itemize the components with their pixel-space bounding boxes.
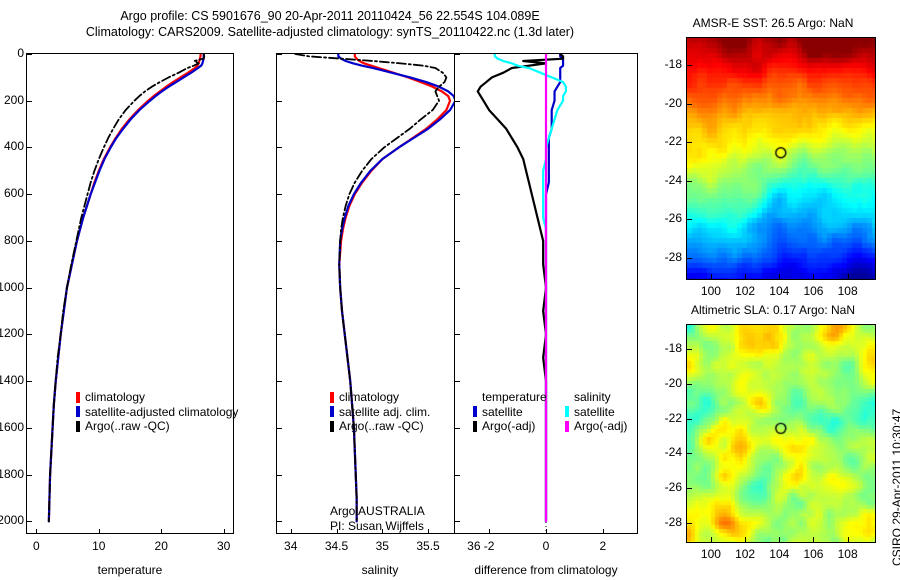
axis-tick-label: 600: [0, 186, 24, 200]
legend-item: Argo(-adj): [565, 419, 627, 434]
legend-item-label: climatology: [85, 390, 145, 405]
axis-tick-label: -20: [650, 376, 682, 390]
series-temperature-argo-adj-: [478, 54, 563, 521]
legend-item-label: Argo(..raw -QC): [85, 419, 170, 434]
csiro-timestamp: CSIRO 29-Apr-2011 10:30:47: [890, 409, 900, 566]
axis-tick-mark: [848, 274, 849, 279]
axis-tick-mark: [813, 274, 814, 279]
axis-tick-mark: [27, 475, 32, 476]
axis-tick-mark: [277, 54, 282, 55]
provider-line-1: Argo AUSTRALIA: [330, 504, 425, 519]
axis-tick-mark: [277, 101, 282, 102]
legend-item-label: satellite adj. clim.: [339, 405, 430, 420]
axis-tick-mark: [687, 181, 692, 182]
difference-legend-salinity: salinitysatelliteArgo(-adj): [565, 390, 627, 434]
series-salinity-satellite: [495, 54, 566, 521]
axis-tick-mark: [455, 521, 460, 522]
axis-tick-mark: [455, 334, 460, 335]
axis-tick-mark: [687, 349, 692, 350]
axis-tick-mark: [161, 529, 162, 534]
axis-tick-label: -28: [650, 250, 682, 264]
axis-tick-label: 30: [204, 539, 244, 553]
series-argo-raw-qc-: [295, 54, 446, 521]
axis-tick-mark: [546, 529, 547, 534]
difference-xlabel: difference from climatology: [444, 563, 648, 577]
axis-tick-mark: [779, 274, 780, 279]
axis-tick-label: 1200: [0, 326, 24, 340]
legend-header: salinity: [565, 390, 627, 405]
legend-item: climatology: [76, 390, 238, 405]
legend-item-label: climatology: [339, 390, 399, 405]
axis-tick-label: -22: [650, 134, 682, 148]
title-line-1: Argo profile: CS 5901676_90 20-Apr-2011 …: [0, 8, 660, 24]
axis-tick-label: 108: [828, 547, 868, 561]
axis-tick-mark: [455, 101, 460, 102]
sst-map-title: AMSR-E SST: 26.5 Argo: NaN: [658, 16, 888, 30]
axis-tick-mark: [455, 381, 460, 382]
axis-tick-mark: [428, 529, 429, 534]
legend-item: climatology: [330, 390, 430, 405]
sla-map-panel: [686, 324, 876, 543]
axis-tick-mark: [455, 54, 460, 55]
axis-tick-mark: [36, 529, 37, 534]
legend-color-swatch: [76, 406, 80, 417]
axis-tick-mark: [489, 529, 490, 534]
axis-tick-mark: [224, 529, 225, 534]
legend-color-swatch: [330, 392, 334, 403]
axis-tick-label: 10: [79, 539, 119, 553]
legend-item-label: satellite-adjusted climatology: [85, 405, 238, 420]
series-temperature-satellite: [546, 54, 563, 521]
difference-panel: [454, 53, 638, 534]
sst-map-panel: [686, 37, 876, 280]
legend-item-label: Argo(..raw -QC): [339, 419, 424, 434]
axis-tick-label: 200: [0, 93, 24, 107]
difference-plot: [455, 54, 637, 533]
legend-color-swatch: [330, 406, 334, 417]
axis-tick-mark: [455, 428, 460, 429]
legend-item: Argo(-adj): [473, 419, 547, 434]
axis-tick-mark: [745, 537, 746, 542]
axis-tick-mark: [27, 334, 32, 335]
axis-tick-mark: [687, 488, 692, 489]
salinity-legend: climatologysatellite adj. clim.Argo(..ra…: [330, 390, 430, 434]
axis-tick-label: 35: [360, 539, 404, 553]
axis-tick-label: 1000: [0, 280, 24, 294]
axis-tick-mark: [27, 147, 32, 148]
axis-tick-mark: [277, 194, 282, 195]
legend-item: satellite-adjusted climatology: [76, 405, 238, 420]
legend-item: satellite: [473, 405, 547, 420]
axis-tick-mark: [277, 288, 282, 289]
axis-tick-mark: [27, 194, 32, 195]
temperature-xlabel: temperature: [26, 563, 234, 577]
axis-tick-mark: [687, 219, 692, 220]
legend-item: satellite: [565, 405, 627, 420]
axis-tick-label: -2: [469, 539, 509, 553]
axis-tick-mark: [277, 521, 282, 522]
axis-tick-mark: [291, 529, 292, 534]
axis-tick-mark: [277, 381, 282, 382]
axis-tick-label: -28: [650, 515, 682, 529]
axis-tick-mark: [687, 65, 692, 66]
axis-tick-label: 108: [828, 284, 868, 298]
sla-map-canvas: [687, 325, 875, 542]
argo-profile-figure: Argo profile: CS 5901676_90 20-Apr-2011 …: [0, 0, 900, 580]
legend-color-swatch: [76, 421, 80, 432]
legend-color-swatch: [565, 406, 569, 417]
legend-item: Argo(..raw -QC): [76, 419, 238, 434]
legend-color-swatch: [76, 392, 80, 403]
axis-tick-label: 2000: [0, 513, 24, 527]
axis-tick-label: 0: [526, 539, 566, 553]
axis-tick-label: 34: [269, 539, 313, 553]
axis-tick-label: 20: [141, 539, 181, 553]
axis-tick-mark: [455, 241, 460, 242]
provider-credit: Argo AUSTRALIA PI: Susan Wijffels: [330, 504, 425, 533]
legend-item-label: satellite: [574, 405, 615, 420]
axis-tick-label: 800: [0, 233, 24, 247]
axis-tick-mark: [687, 419, 692, 420]
axis-tick-mark: [27, 288, 32, 289]
axis-tick-mark: [277, 241, 282, 242]
axis-tick-mark: [687, 104, 692, 105]
series-satellite-adj-clim-: [338, 54, 455, 521]
axis-tick-mark: [277, 475, 282, 476]
axis-tick-label: -24: [650, 445, 682, 459]
axis-tick-mark: [455, 194, 460, 195]
axis-tick-label: 35.5: [406, 539, 450, 553]
axis-tick-label: -26: [650, 480, 682, 494]
axis-tick-mark: [687, 384, 692, 385]
legend-color-swatch: [330, 421, 334, 432]
axis-tick-label: 0: [16, 539, 56, 553]
legend-header: temperature: [473, 390, 547, 405]
axis-tick-mark: [603, 529, 604, 534]
salinity-panel: [276, 53, 484, 534]
axis-tick-mark: [27, 381, 32, 382]
axis-tick-mark: [848, 537, 849, 542]
axis-tick-label: -18: [650, 341, 682, 355]
axis-tick-mark: [277, 334, 282, 335]
axis-tick-label: -24: [650, 173, 682, 187]
series-satellite-adjusted-climatology: [49, 54, 204, 521]
axis-tick-mark: [711, 537, 712, 542]
figure-title: Argo profile: CS 5901676_90 20-Apr-2011 …: [0, 8, 660, 40]
axis-tick-mark: [277, 147, 282, 148]
axis-tick-mark: [455, 475, 460, 476]
axis-tick-label: 1600: [0, 420, 24, 434]
axis-tick-label: 1800: [0, 467, 24, 481]
temperature-legend: climatologysatellite-adjusted climatolog…: [76, 390, 238, 434]
legend-item-label: satellite: [482, 405, 523, 420]
temperature-plot: [27, 54, 233, 533]
sla-map-title: Altimetric SLA: 0.17 Argo: NaN: [658, 303, 888, 317]
salinity-plot: [277, 54, 483, 533]
axis-tick-mark: [27, 101, 32, 102]
provider-line-2: PI: Susan Wijffels: [330, 519, 425, 534]
axis-tick-mark: [27, 241, 32, 242]
title-line-2: Climatology: CARS2009. Satellite-adjuste…: [0, 24, 660, 40]
axis-tick-mark: [27, 54, 32, 55]
axis-tick-mark: [277, 428, 282, 429]
legend-item-label: Argo(-adj): [482, 419, 535, 434]
legend-item: satellite adj. clim.: [330, 405, 430, 420]
axis-tick-label: -22: [650, 411, 682, 425]
series-climatology: [49, 54, 201, 521]
axis-tick-mark: [687, 142, 692, 143]
legend-color-swatch: [473, 406, 477, 417]
axis-tick-mark: [99, 529, 100, 534]
axis-tick-label: -20: [650, 96, 682, 110]
axis-tick-mark: [687, 523, 692, 524]
axis-tick-label: -26: [650, 211, 682, 225]
axis-tick-mark: [27, 428, 32, 429]
axis-tick-label: 2: [583, 539, 623, 553]
axis-tick-mark: [711, 274, 712, 279]
legend-color-swatch: [473, 421, 477, 432]
axis-tick-mark: [779, 537, 780, 542]
axis-tick-mark: [455, 288, 460, 289]
axis-tick-mark: [27, 521, 32, 522]
axis-tick-label: -18: [650, 57, 682, 71]
axis-tick-mark: [455, 147, 460, 148]
axis-tick-label: 1400: [0, 373, 24, 387]
axis-tick-mark: [687, 258, 692, 259]
legend-item-label: Argo(-adj): [574, 419, 627, 434]
axis-tick-label: 400: [0, 139, 24, 153]
axis-tick-mark: [745, 274, 746, 279]
axis-tick-label: 0: [0, 46, 24, 60]
sst-map-canvas: [687, 38, 875, 279]
difference-legend-temperature: temperaturesatelliteArgo(-adj): [473, 390, 547, 434]
axis-tick-label: 34.5: [315, 539, 359, 553]
axis-tick-mark: [813, 537, 814, 542]
axis-tick-mark: [687, 453, 692, 454]
legend-color-swatch: [565, 421, 569, 432]
legend-item: Argo(..raw -QC): [330, 419, 430, 434]
temperature-panel: [26, 53, 234, 534]
